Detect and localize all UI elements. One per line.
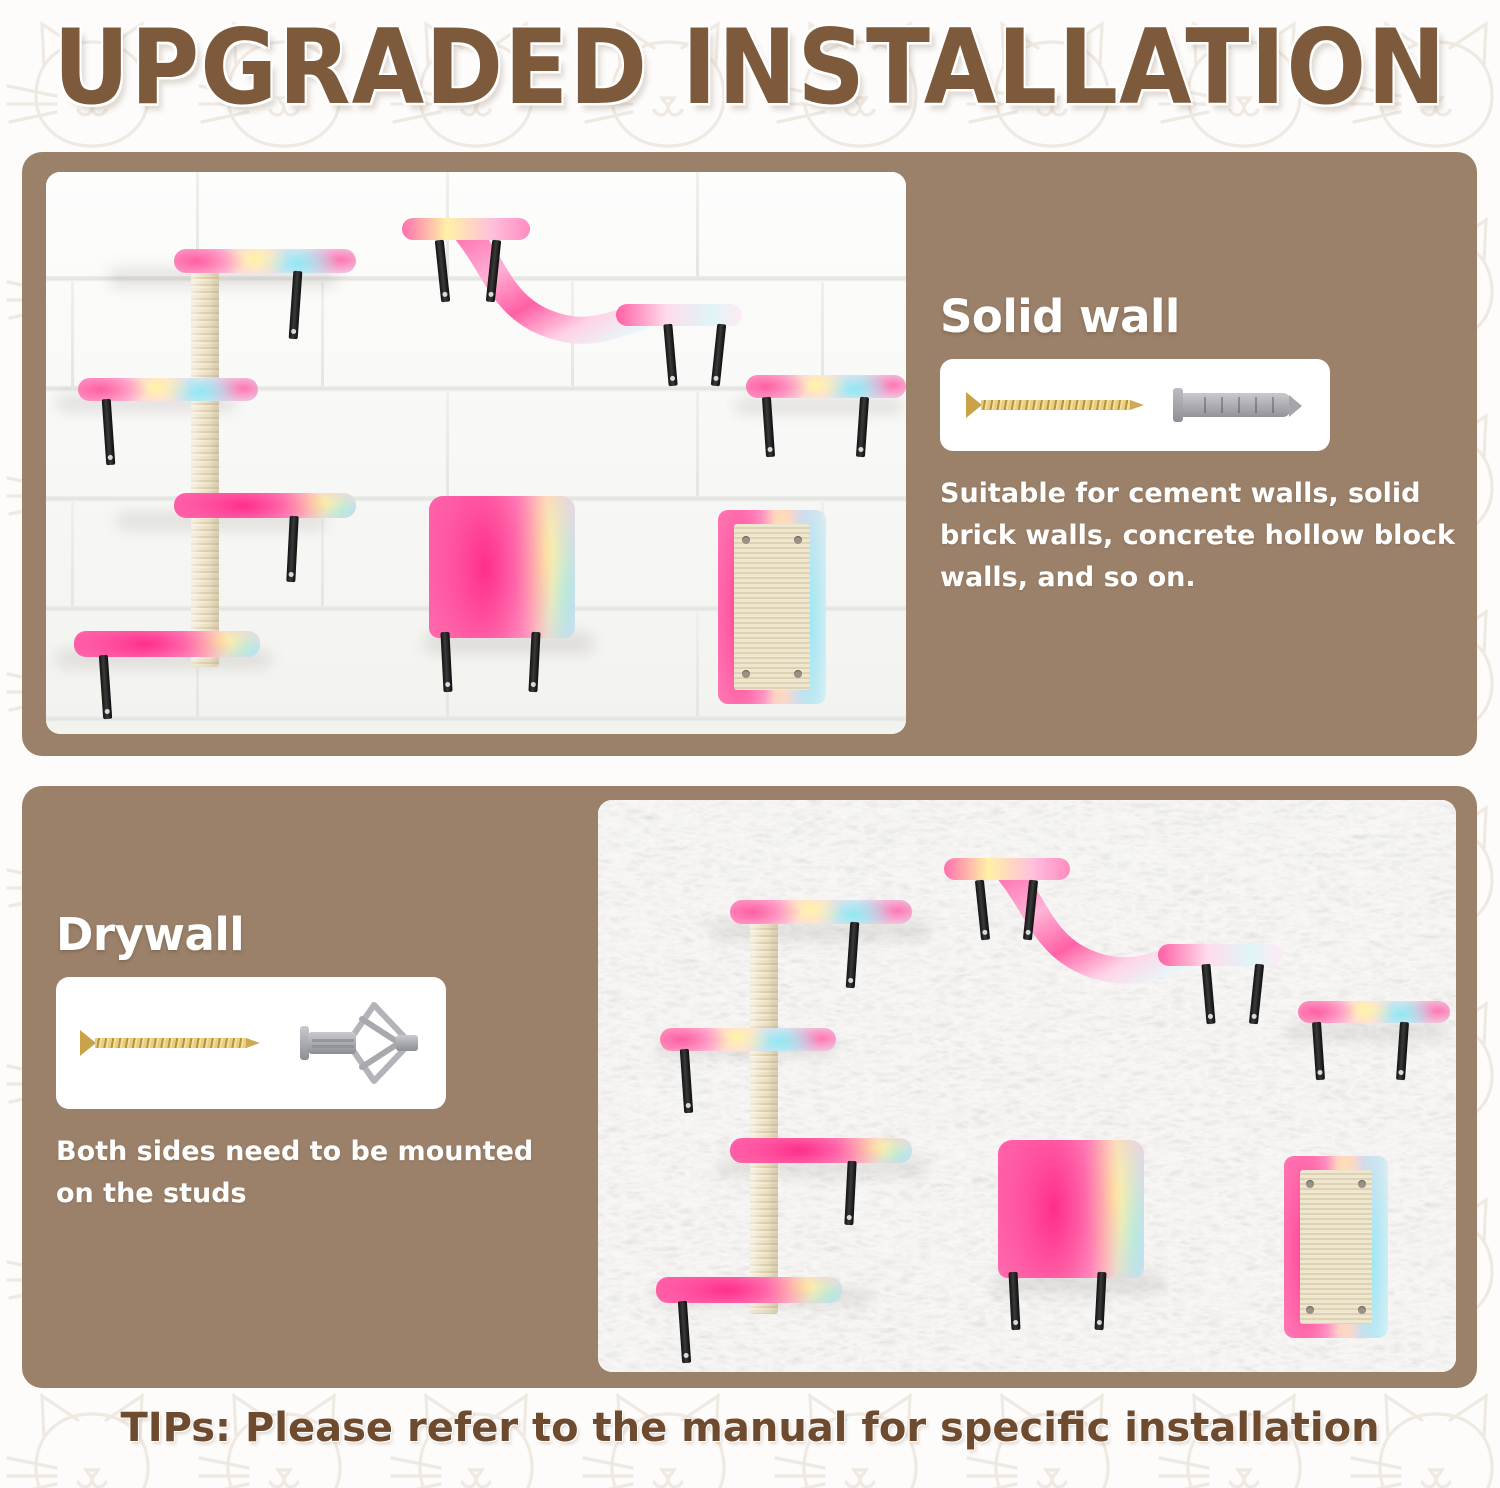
page-title: UPGRADED INSTALLATION bbox=[0, 8, 1500, 128]
cat-wall-shelf bbox=[74, 631, 260, 657]
solid-wall-hardware-card bbox=[940, 359, 1330, 451]
cat-hammock-perch bbox=[998, 1140, 1144, 1278]
cat-wall-shelf bbox=[174, 493, 356, 518]
cat-wall-shelf bbox=[1298, 1001, 1450, 1023]
sisal-scratch-pad bbox=[1284, 1156, 1388, 1338]
wall-plug-icon bbox=[1180, 393, 1290, 417]
plush-shadow bbox=[710, 922, 930, 940]
screw-hole bbox=[794, 536, 802, 544]
infographic-page: UPGRADED INSTALLATION bbox=[0, 0, 1500, 1488]
solid-wall-heading: Solid wall bbox=[940, 290, 1460, 343]
solid-wall-description: Suitable for cement walls, solid brick w… bbox=[940, 473, 1460, 599]
solid-wall-info-block: Solid wall Suitable for cement walls, so… bbox=[940, 290, 1460, 599]
scratch-pad-sisal-surface bbox=[734, 524, 810, 690]
cat-hammock-perch bbox=[429, 496, 575, 638]
sisal-scratch-pad bbox=[718, 510, 826, 704]
screw-hole bbox=[1358, 1306, 1366, 1314]
drywall-description: Both sides need to be mounted on the stu… bbox=[56, 1131, 556, 1215]
cat-wall-shelf bbox=[660, 1028, 836, 1051]
cat-wall-shelf bbox=[730, 1138, 912, 1163]
cat-wall-shelf bbox=[730, 900, 912, 924]
sisal-scratching-post bbox=[750, 918, 778, 1314]
screw-icon bbox=[80, 1030, 270, 1056]
solid-wall-installation-photo bbox=[46, 172, 906, 734]
screw-hole bbox=[742, 536, 750, 544]
cat-wall-shelf bbox=[174, 249, 356, 273]
scratch-pad-sisal-surface bbox=[1300, 1170, 1372, 1324]
installation-tips-note: TIPs: Please refer to the manual for spe… bbox=[0, 1405, 1500, 1451]
plush-shadow bbox=[734, 398, 904, 414]
screw-hole bbox=[1306, 1306, 1314, 1314]
drywall-info-block: Drywall bbox=[56, 908, 556, 1215]
screw-hole bbox=[1358, 1180, 1366, 1188]
screw-hole bbox=[1306, 1180, 1314, 1188]
screw-icon bbox=[966, 392, 1156, 418]
screw-hole bbox=[742, 670, 750, 678]
cat-wall-shelf bbox=[656, 1277, 842, 1303]
cat-wall-shelf bbox=[78, 378, 258, 401]
cat-wall-shelf bbox=[746, 375, 906, 398]
drywall-hardware-card bbox=[56, 977, 446, 1109]
sisal-scratching-post bbox=[191, 267, 219, 667]
toggle-anchor-icon bbox=[292, 993, 428, 1093]
drywall-installation-photo bbox=[598, 800, 1456, 1372]
screw-hole bbox=[794, 670, 802, 678]
drywall-heading: Drywall bbox=[56, 908, 556, 961]
